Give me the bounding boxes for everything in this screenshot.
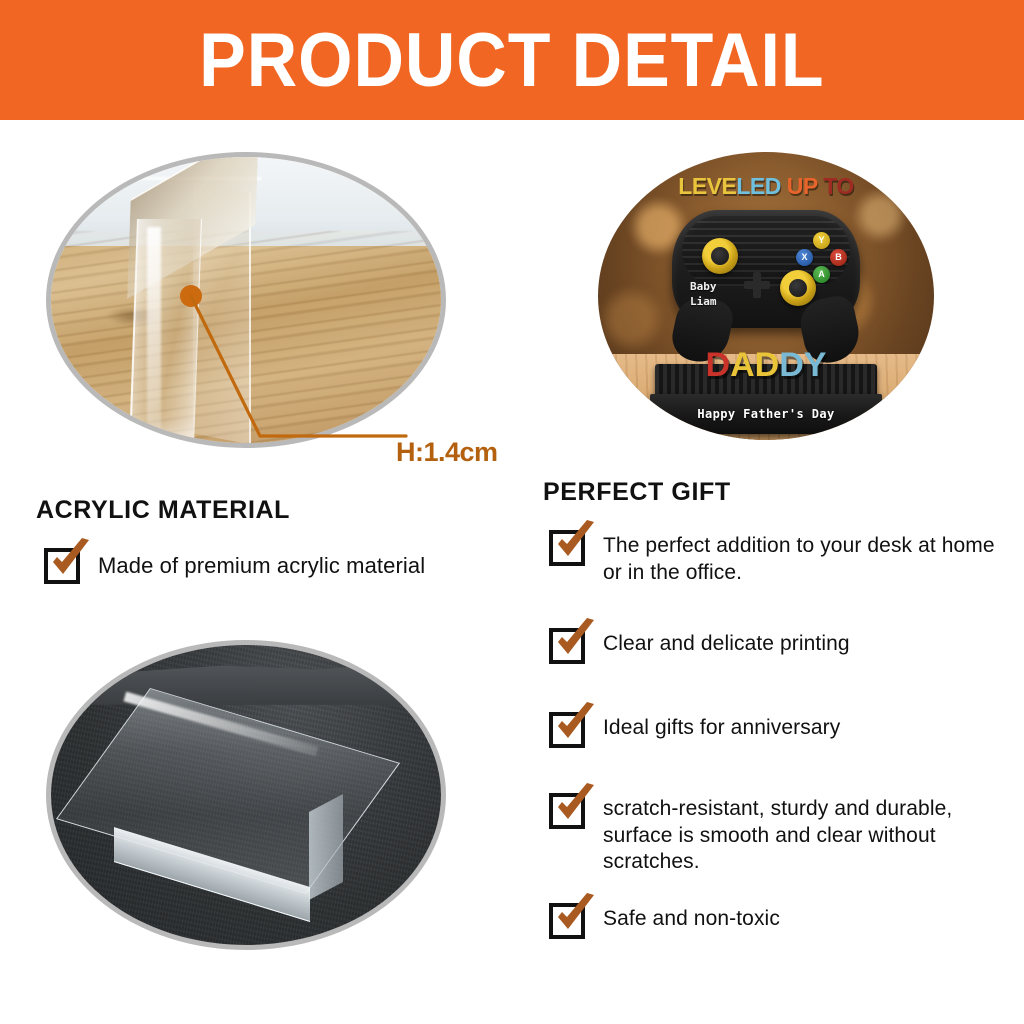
checkmark-icon [551,893,599,937]
checkmark-icon [551,702,599,746]
page-title: PRODUCT DETAIL [199,23,824,99]
section-heading-perfect-gift: PERFECT GIFT [543,478,731,507]
list-item-label: Made of premium acrylic material [98,552,425,580]
daddy-letter-2: A [730,346,755,384]
list-item-label: Safe and non-toxic [603,906,780,933]
list-item: The perfect addition to your desk at hom… [549,530,1009,586]
checkmark-icon [551,618,599,662]
checkmark-icon [551,520,599,564]
list-item: scratch-resistant, sturdy and durable, s… [549,793,1009,876]
abxy-button-cluster: Y X B A [796,232,848,284]
acrylic-slab-object [103,707,365,907]
list-item-label: The perfect addition to your desk at hom… [603,533,1009,586]
daddy-letter-3: D [755,346,780,384]
leveled-up-to-text: LEVELED UP TO [598,175,934,198]
leveled-word-1: LEVE [678,173,736,199]
checkbox-checked-icon [549,628,585,664]
product-base: Happy Father's Day [650,394,882,434]
button-b-icon: B [830,249,847,266]
header-banner: PRODUCT DETAIL [0,0,1024,120]
lego-game-controller: Y X B A [672,210,860,328]
base-engraved-text: Happy Father's Day [697,407,834,421]
dimension-label: H:1.4cm [396,437,498,468]
list-item: Safe and non-toxic [549,903,1009,939]
checkbox-checked-icon [549,530,585,566]
daddy-letter-5: Y [804,346,827,384]
dpad-icon [744,272,770,298]
daddy-letter-1: D [706,346,731,384]
leveled-word-3: UP [787,173,818,199]
checkmark-icon [551,783,599,827]
checkbox-checked-icon [549,712,585,748]
leveled-word-4: TO [823,173,854,199]
list-item: Ideal gifts for anniversary [549,712,1009,748]
engraved-name: Baby Liam [690,280,717,310]
engraved-name-line2: Liam [690,295,717,310]
list-item: Made of premium acrylic material [44,548,514,584]
slab-right-face [309,794,343,900]
daddy-letter-4: D [779,346,804,384]
leveled-word-2: LED [736,173,781,199]
button-a-icon: A [813,266,830,283]
slate-scene [51,645,441,945]
checkbox-checked-icon [549,793,585,829]
acrylic-slab-photo [46,640,446,950]
list-item-label: scratch-resistant, sturdy and durable, s… [603,796,1009,876]
checkbox-checked-icon [44,548,80,584]
checkmark-icon [46,538,94,582]
section-heading-acrylic-material: ACRYLIC MATERIAL [36,496,290,525]
list-item-label: Clear and delicate printing [603,631,850,658]
button-y-icon: Y [813,232,830,249]
button-x-icon: X [796,249,813,266]
list-item-label: Ideal gifts for anniversary [603,715,840,742]
checkbox-checked-icon [549,903,585,939]
left-analog-stick [702,238,738,274]
dimension-leader-line [150,280,410,470]
daddy-word-blocks: DADDY [706,348,827,382]
engraved-name-line1: Baby [690,280,717,295]
list-item: Clear and delicate printing [549,628,1009,664]
product-photo: LEVELED UP TO Y X B A Baby Liam DADDY Ha… [598,152,934,440]
